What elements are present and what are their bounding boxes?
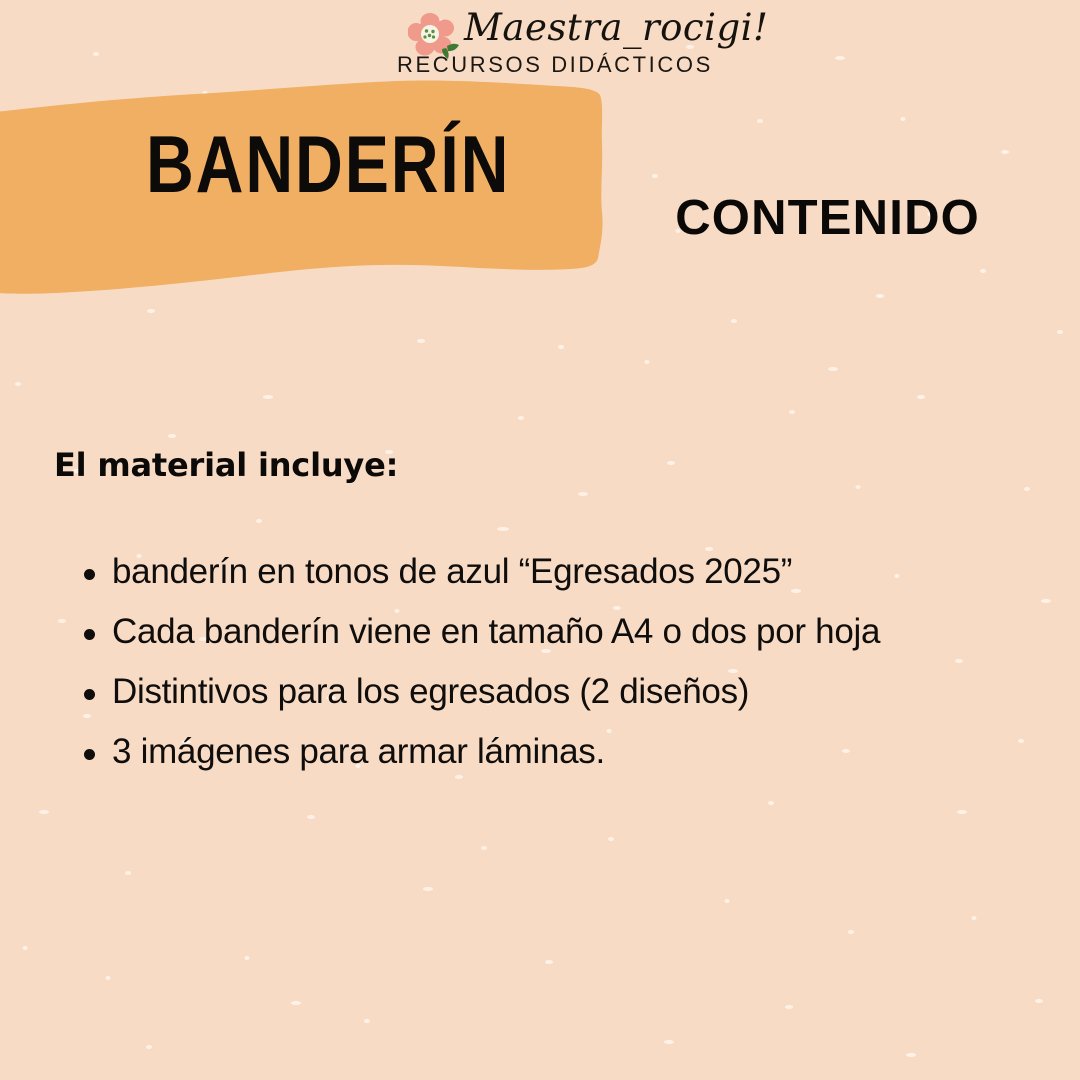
list-item: 3 imágenes para armar láminas. — [78, 728, 1028, 776]
lead-text: El material incluye: — [54, 446, 398, 484]
list-item: Cada banderín viene en tamaño A4 o dos p… — [78, 608, 1028, 656]
list-item: Distintivos para los egresados (2 diseño… — [78, 668, 1028, 716]
brand-subtitle: RECURSOS DIDÁCTICOS — [397, 52, 713, 78]
slide-canvas: Maestra_rocigi! RECURSOS DIDÁCTICOS BAND… — [0, 0, 1080, 1080]
brand-logo: Maestra_rocigi! RECURSOS DIDÁCTICOS — [0, 8, 1080, 90]
brand-script-text: Maestra_rocigi! — [464, 6, 768, 49]
list-item: banderín en tonos de azul “Egresados 202… — [78, 548, 1028, 596]
material-list: banderín en tonos de azul “Egresados 202… — [78, 548, 1028, 788]
section-heading: CONTENIDO — [675, 190, 980, 246]
banner-title-text: BANDERÍN — [146, 125, 510, 206]
